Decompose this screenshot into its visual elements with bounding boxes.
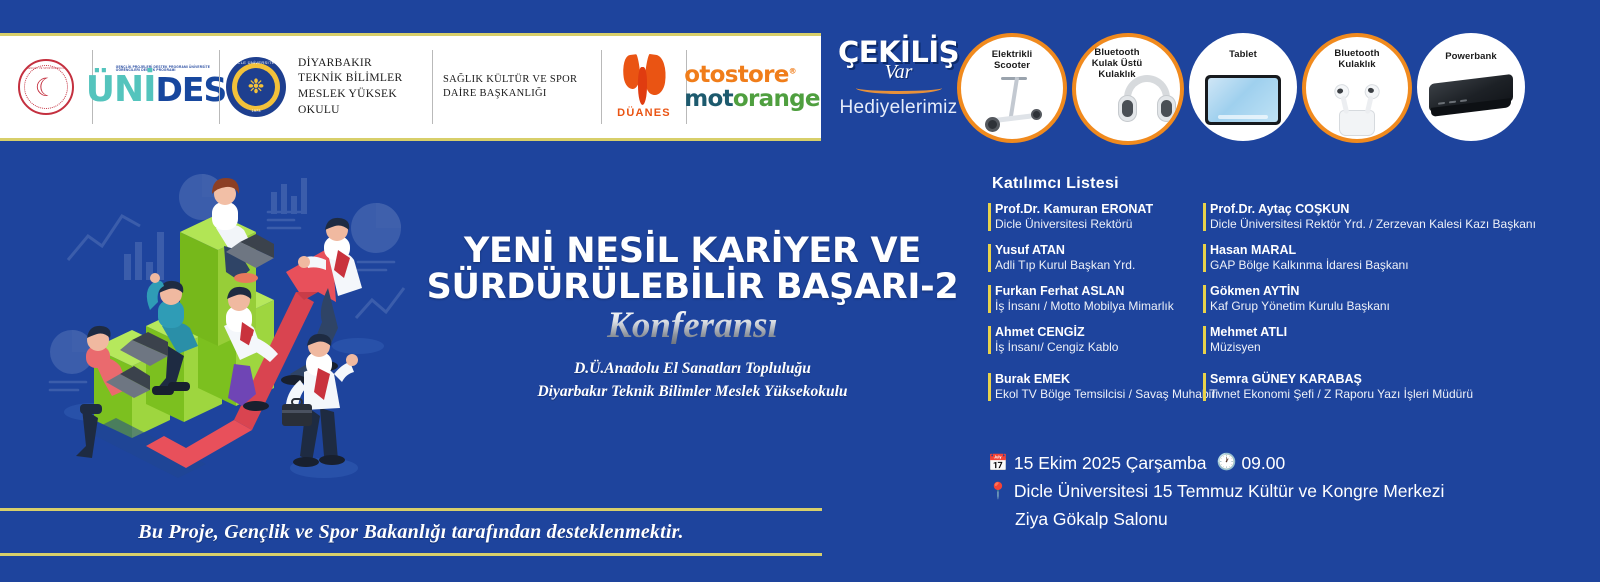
isometric-business-growth-illustration	[28, 150, 428, 500]
location-pin-icon: 📍	[988, 480, 1008, 502]
swoosh-underline-icon	[856, 82, 942, 94]
prize-item-over-ear-headphones[interactable]: Bluetooth Kulak Üstü Kulaklık	[1072, 33, 1184, 145]
event-venue-row: 📍 Dicle Üniversitesi 15 Temmuz Kültür ve…	[988, 480, 1528, 503]
participant-role: Ekol TV Bölge Temsilcisi / Savaş Muhabir…	[995, 387, 1184, 402]
list-item: Prof.Dr. Kamuran ERONAT Dicle Üniversite…	[988, 202, 1184, 232]
prize-label-line: Bluetooth	[1092, 47, 1143, 58]
organizer-line-1: D.Ü.Anadolu El Sanatları Topluluğu	[415, 358, 970, 380]
duanes-label: DÜANES	[617, 107, 671, 119]
participant-name: Ahmet CENGİZ	[995, 325, 1184, 340]
unides-uni-text: ÜNİ	[86, 72, 156, 108]
calendar-icon: 📅	[988, 452, 1008, 474]
support-text: Bu Proje, Gençlik ve Spor Bakanlığı tara…	[138, 521, 683, 544]
event-date: 15 Ekim 2025 Çarşamba	[1014, 452, 1207, 475]
list-item: Semra GÜNEY KARABAŞ Tvnet Ekonomi Şefi /…	[1203, 372, 1503, 402]
event-venue-line-2: Ziya Gökalp Salonu	[1015, 508, 1168, 531]
school-name-line1: DİYARBAKIR	[298, 56, 432, 72]
prize-label-line: Elektrikli	[992, 49, 1033, 60]
otostore-word: otostore	[684, 62, 788, 88]
department-line1: SAĞLIK KÜLTÜR VE SPOR	[443, 73, 577, 87]
duanes-logo: DÜANES	[602, 50, 686, 124]
prize-label-line: Kulak Üstü	[1092, 58, 1143, 69]
department-name-block: SAĞLIK KÜLTÜR VE SPOR DAİRE BAŞKANLIĞI	[433, 50, 601, 124]
raffle-headline-script: Var	[885, 61, 913, 84]
participant-name: Hasan MARAL	[1210, 243, 1503, 258]
motorange-suffix: orange	[733, 86, 820, 112]
event-details: 📅 15 Ekim 2025 Çarşamba 🕐 09.00 📍 Dicle …	[988, 452, 1528, 535]
list-item: Furkan Ferhat ASLAN İş İnsanı / Motto Mo…	[988, 284, 1184, 314]
prize-label-line: Kulaklık	[1092, 69, 1143, 80]
event-venue-line-1: Dicle Üniversitesi 15 Temmuz Kültür ve K…	[1014, 480, 1445, 503]
ministry-seal-logo: ☾ GENÇLİK VE SPOR BAKANLIĞI	[0, 50, 92, 124]
event-datetime-row: 📅 15 Ekim 2025 Çarşamba 🕐 09.00	[988, 452, 1528, 475]
prize-label-line: Scooter	[992, 60, 1033, 71]
title-line-1: YENİ NESİL KARİYER VE	[415, 233, 970, 269]
participant-role: Adli Tıp Kurul Başkan Yrd.	[995, 258, 1184, 273]
otostore-motorange-logo: otostore® motorange	[687, 50, 817, 124]
participant-name: Prof.Dr. Kamuran ERONAT	[995, 202, 1184, 217]
title-script-word: Konferansı	[415, 307, 970, 344]
participant-role: İş İnsanı/ Cengiz Kablo	[995, 340, 1184, 355]
organizer-line-2: Diyarbakır Teknik Bilimler Meslek Yüksek…	[415, 381, 970, 403]
emblem-year: 1973	[226, 108, 286, 113]
participant-role: GAP Bölge Kalkınma İdaresi Başkanı	[1210, 258, 1503, 273]
participant-name: Yusuf ATAN	[995, 243, 1184, 258]
participant-list-heading: Katılımcı Listesi	[992, 175, 1508, 193]
dicle-university-emblem-icon: DİCLE ÜNİVERSİTESİ ❉ 1973	[226, 57, 286, 117]
participant-name: Prof.Dr. Aytaç COŞKUN	[1210, 202, 1503, 217]
prize-label-line: Tablet	[1229, 49, 1257, 60]
participant-name: Mehmet ATLI	[1210, 325, 1503, 340]
participant-name: Furkan Ferhat ASLAN	[995, 284, 1184, 299]
electric-scooter-icon	[961, 69, 1063, 135]
emblem-ring-text: DİCLE ÜNİVERSİTESİ	[226, 60, 286, 65]
motorange-prefix: mot	[684, 86, 733, 112]
support-banner: Bu Proje, Gençlik ve Spor Bakanlığı tara…	[0, 508, 822, 556]
school-name-line3: MESLEK YÜKSEK OKULU	[298, 87, 432, 118]
tablet-icon	[1189, 59, 1297, 125]
prize-item-powerbank[interactable]: Powerbank	[1417, 33, 1525, 141]
trademark-symbol: ®	[789, 66, 796, 75]
school-name-block: DİYARBAKIR TEKNİK BİLİMLER MESLEK YÜKSEK…	[292, 50, 432, 124]
list-item: Gökmen AYTİN Kaf Grup Yönetim Kurulu Baş…	[1203, 284, 1503, 314]
list-item: Burak EMEK Ekol TV Bölge Temsilcisi / Sa…	[988, 372, 1184, 402]
dicle-university-emblem: DİCLE ÜNİVERSİTESİ ❉ 1973	[220, 50, 292, 124]
list-item: Yusuf ATAN Adli Tıp Kurul Başkan Yrd.	[988, 243, 1184, 273]
illustration-svg	[28, 150, 428, 500]
prize-label-line: Kulaklık	[1334, 59, 1379, 70]
turkish-ministry-seal-icon: ☾ GENÇLİK VE SPOR BAKANLIĞI	[18, 59, 74, 115]
conference-poster: ☾ GENÇLİK VE SPOR BAKANLIĞI GENÇLİK PROJ…	[0, 0, 1600, 582]
raffle-headline-block: ÇEKİLİŞ Var Hediyelerimiz	[836, 38, 961, 146]
prize-label-line: Powerbank	[1445, 51, 1497, 62]
school-name-line2: TEKNİK BİLİMLER	[298, 71, 432, 87]
list-item: Hasan MARAL GAP Bölge Kalkınma İdaresi B…	[1203, 243, 1503, 273]
participant-name: Burak EMEK	[995, 372, 1184, 387]
seal-ring-text: GENÇLİK VE SPOR BAKANLIĞI	[27, 68, 66, 70]
duanes-tulip-logo-icon	[622, 55, 666, 105]
participant-name: Semra GÜNEY KARABAŞ	[1210, 372, 1503, 387]
emblem-center-ornament: ❉	[248, 77, 265, 97]
unides-logo: GENÇLİK PROJELERİ DESTEK PROGRAMI ÜNİVER…	[93, 50, 219, 124]
participant-role: Dicle Üniversitesi Rektörü	[995, 217, 1184, 232]
department-line2: DAİRE BAŞKANLIĞI	[443, 87, 577, 101]
event-venue-row-2: Ziya Gökalp Salonu	[988, 508, 1528, 531]
participant-column-left: Prof.Dr. Kamuran ERONAT Dicle Üniversite…	[988, 202, 1184, 413]
clock-icon: 🕐	[1217, 452, 1237, 473]
participant-role: Kaf Grup Yönetim Kurulu Başkanı	[1210, 299, 1503, 314]
unides-des-text: DES	[156, 73, 227, 106]
list-item: Ahmet CENGİZ İş İnsanı/ Cengiz Kablo	[988, 325, 1184, 355]
raffle-subtitle: Hediyelerimiz	[840, 97, 958, 119]
participant-list: Katılımcı Listesi Prof.Dr. Kamuran ERONA…	[988, 175, 1508, 413]
prize-label-line: Bluetooth	[1334, 48, 1379, 59]
participant-column-right: Prof.Dr. Aytaç COŞKUN Dicle Üniversitesi…	[1203, 202, 1503, 413]
participant-role: Dicle Üniversitesi Rektör Yrd. / Zerzeva…	[1210, 217, 1503, 232]
participant-role: Müzisyen	[1210, 340, 1503, 355]
prize-item-scooter[interactable]: Elektrikli Scooter	[957, 33, 1067, 143]
list-item: Prof.Dr. Aytaç COŞKUN Dicle Üniversitesi…	[1203, 202, 1503, 232]
sponsor-logo-bar: ☾ GENÇLİK VE SPOR BAKANLIĞI GENÇLİK PROJ…	[0, 33, 821, 141]
prize-item-earbuds[interactable]: Bluetooth Kulaklık	[1302, 33, 1412, 143]
participant-role: İş İnsanı / Motto Mobilya Mimarlık	[995, 299, 1184, 314]
crescent-star-icon: ☾	[35, 75, 57, 100]
title-line-2: SÜRDÜRÜLEBİLİR BAŞARI-2	[415, 269, 970, 305]
prize-item-tablet[interactable]: Tablet	[1189, 33, 1297, 141]
event-title-block: YENİ NESİL KARİYER VE SÜRDÜRÜLEBİLİR BAŞ…	[415, 233, 970, 403]
participant-role: Tvnet Ekonomi Şefi / Z Raporu Yazı İşler…	[1210, 387, 1503, 402]
event-time: 09.00	[1241, 452, 1285, 475]
list-item: Mehmet ATLI Müzisyen	[1203, 325, 1503, 355]
powerbank-icon	[1417, 55, 1525, 121]
participant-name: Gökmen AYTİN	[1210, 284, 1503, 299]
wireless-earbuds-icon	[1306, 70, 1408, 136]
